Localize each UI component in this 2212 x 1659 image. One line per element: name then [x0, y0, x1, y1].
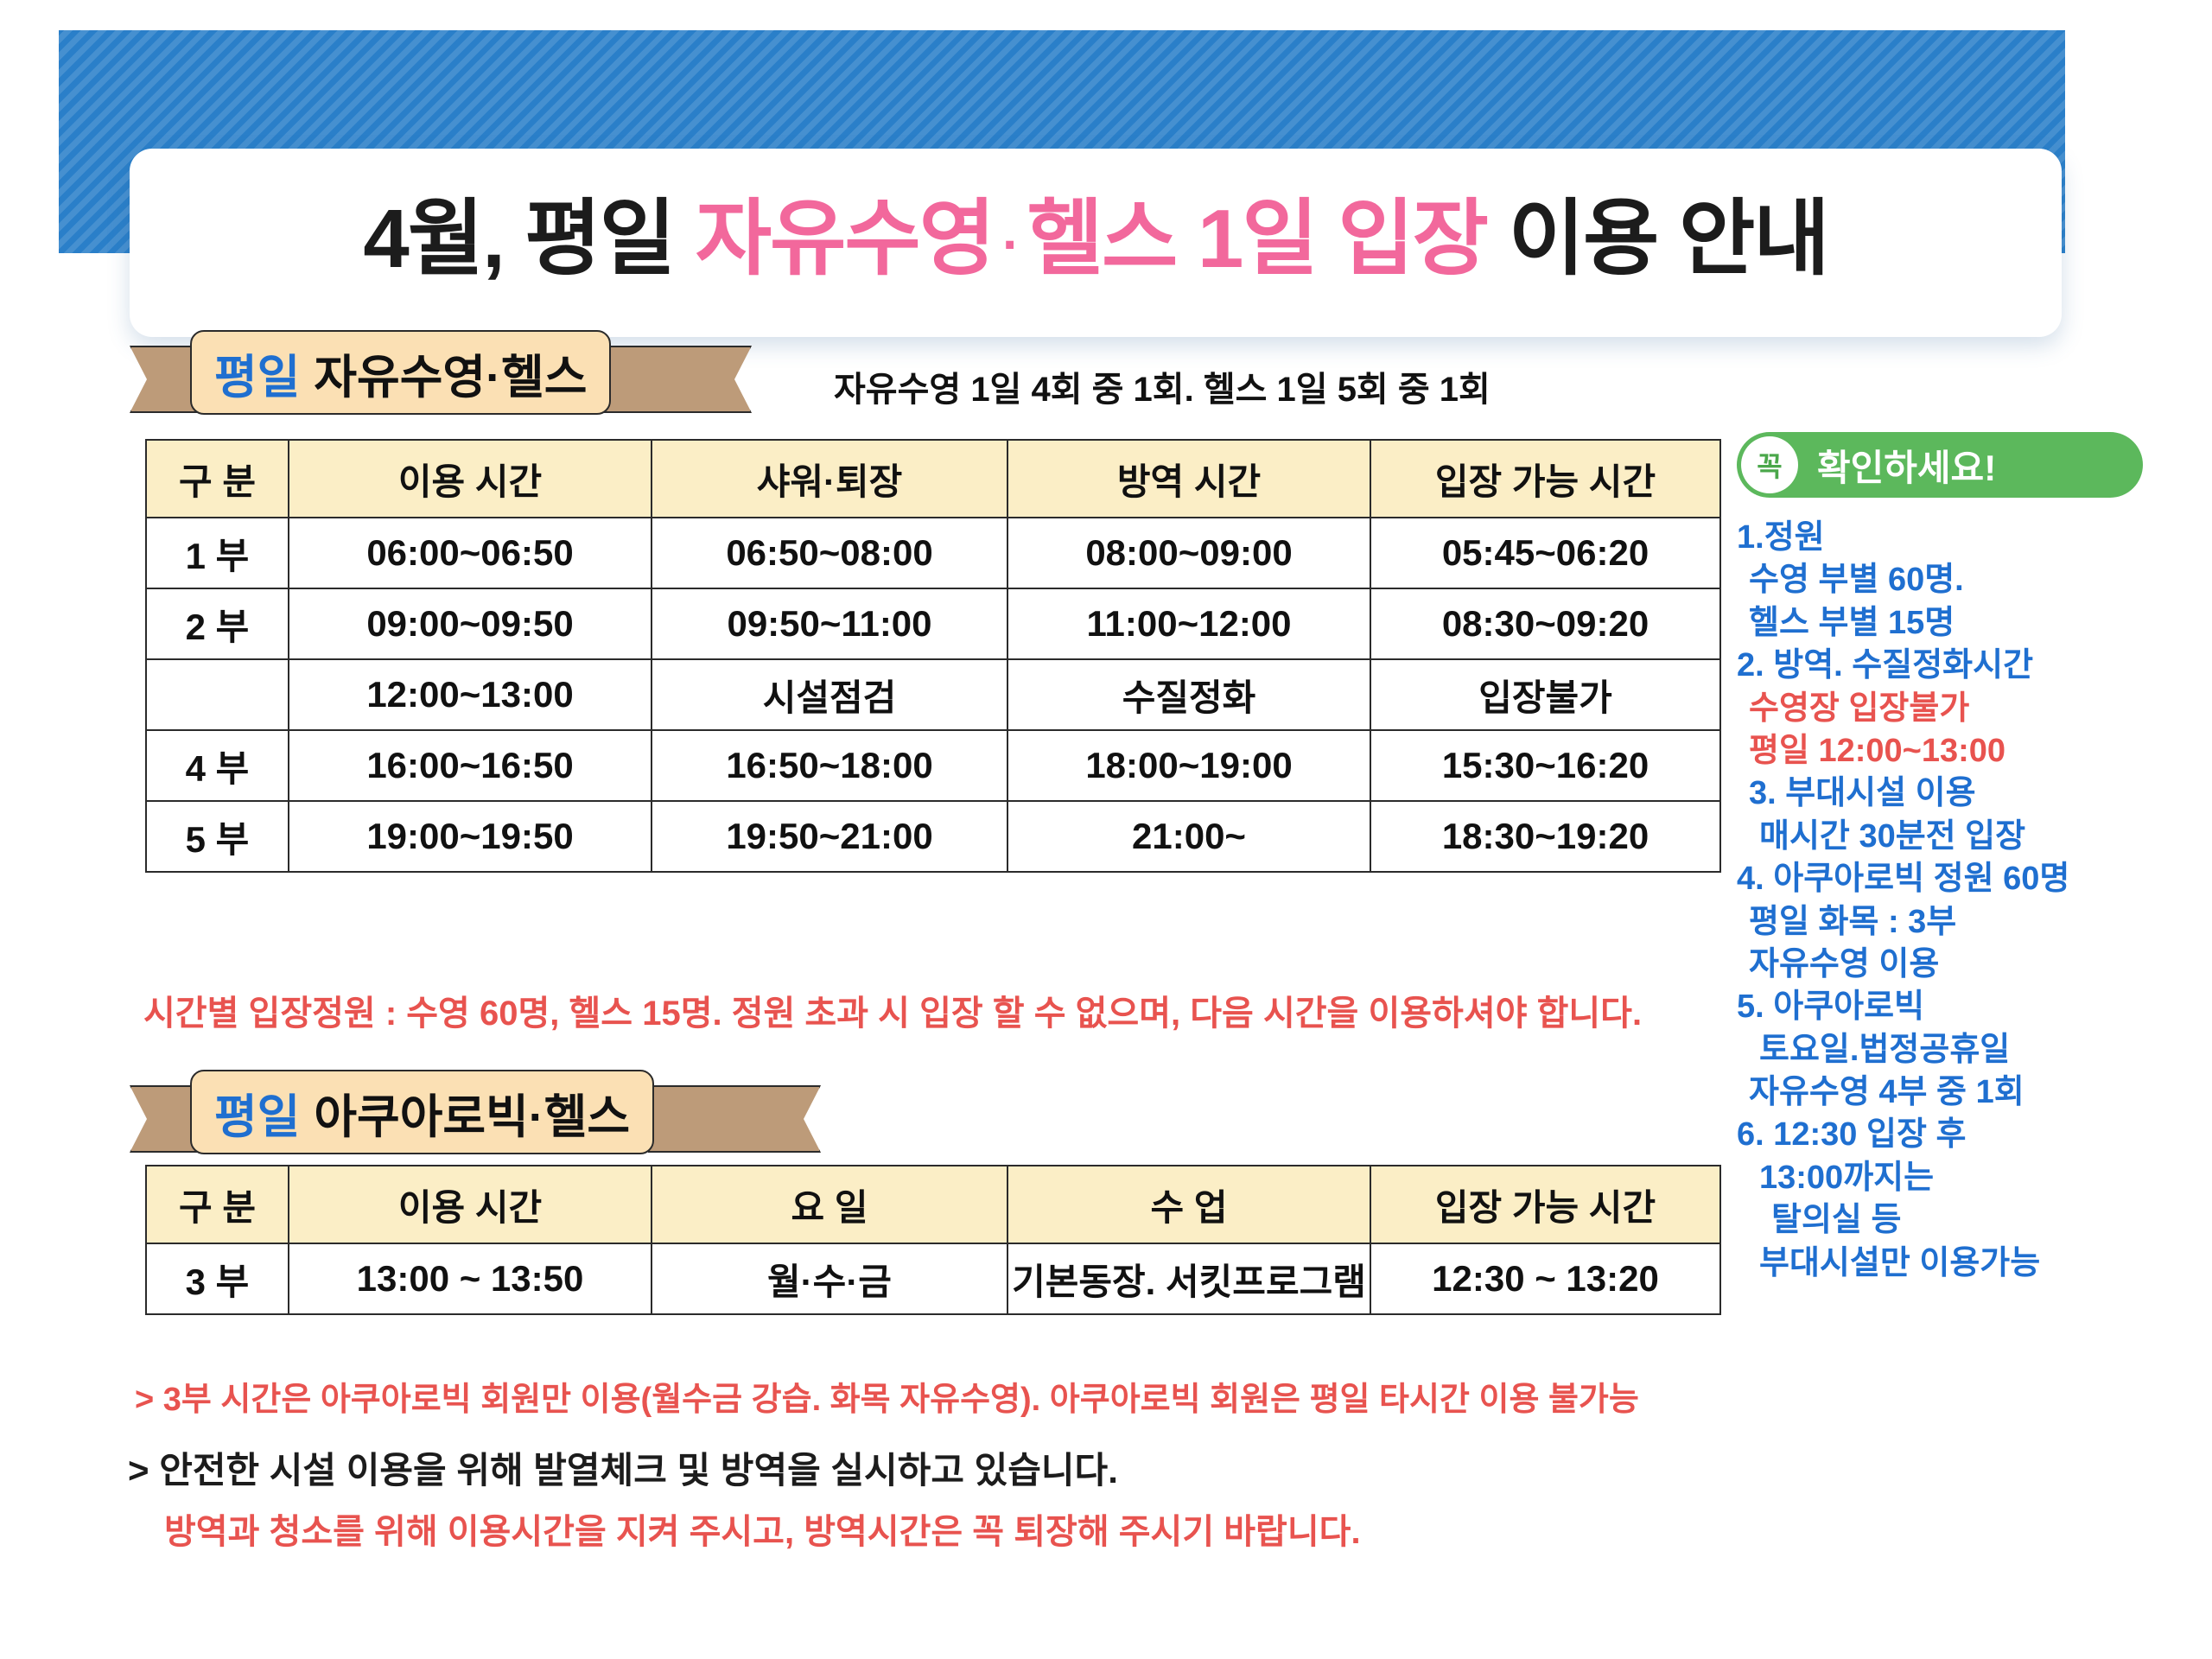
section2-ribbon-label: 아쿠아로빅·헬스: [300, 1078, 630, 1147]
s2-col-1: 이용 시간: [289, 1166, 652, 1243]
s1-r3-c3: 18:00~19:00: [1007, 730, 1370, 801]
s1-col-4: 입장 가능 시간: [1370, 440, 1720, 518]
s1-r1-c2: 09:50~11:00: [652, 588, 1007, 659]
badge-mark-icon: 꼭: [1741, 436, 1798, 493]
s2-r0-c4: 12:30 ~ 13:20: [1370, 1243, 1720, 1314]
s1-r2-c1: 12:00~13:00: [289, 659, 652, 730]
s2-r0-c1: 13:00 ~ 13:50: [289, 1243, 652, 1314]
footnote-1: > 3부 시간은 아쿠아로빅 회원만 이용(월수금 강습. 화목 자유수영). …: [135, 1372, 1639, 1420]
s1-r3-c2: 16:50~18:00: [652, 730, 1007, 801]
s2-r0-c2: 월·수·금: [652, 1243, 1007, 1314]
check-badge: 꼭 확인하세요!: [1737, 432, 2143, 498]
s1-col-1: 이용 시간: [289, 440, 652, 518]
s2-r0-c3: 기본동장. 서킷프로그램: [1007, 1243, 1370, 1314]
s1-col-3: 방역 시간: [1007, 440, 1370, 518]
table-row: 2 부 09:00~09:50 09:50~11:00 11:00~12:00 …: [146, 588, 1720, 659]
section2-ribbon-prefix: 평일: [214, 1078, 300, 1147]
section2-ribbon: 평일 아쿠아로빅·헬스: [130, 1070, 821, 1160]
table-row-maintenance: 12:00~13:00 시설점검 수질정화 입장불가: [146, 659, 1720, 730]
ribbon-tail-right: [648, 1085, 821, 1153]
list-item: 헬스 부별 15명: [1737, 602, 2203, 645]
footnote-2: > 안전한 시설 이용을 위해 발열체크 및 방역을 실시하고 있습니다.: [128, 1441, 1118, 1494]
s1-r4-c2: 19:50~21:00: [652, 801, 1007, 872]
list-item: 탈의실 등: [1737, 1199, 2203, 1242]
section1-ribbon-prefix: 평일: [214, 339, 300, 407]
list-item: 6. 12:30 입장 후: [1737, 1114, 2203, 1156]
list-item: 5. 아쿠아로빅: [1737, 986, 2203, 1028]
ribbon-plaque: 평일 자유수영·헬스: [190, 330, 611, 415]
list-item: 3. 부대시설 이용: [1737, 772, 2203, 815]
s1-r3-c1: 16:00~16:50: [289, 730, 652, 801]
table-row: 4 부 16:00~16:50 16:50~18:00 18:00~19:00 …: [146, 730, 1720, 801]
list-item: 매시간 30분전 입장: [1737, 816, 2203, 858]
s1-r2-c2: 시설점검: [652, 659, 1007, 730]
s1-r4-c1: 19:00~19:50: [289, 801, 652, 872]
section1-ribbon: 평일 자유수영·헬스: [130, 330, 752, 420]
s2-col-3: 수 업: [1007, 1166, 1370, 1243]
list-item: 4. 아쿠아로빅 정원 60명: [1737, 858, 2203, 900]
table-row: 3 부 13:00 ~ 13:50 월·수·금 기본동장. 서킷프로그램 12:…: [146, 1243, 1720, 1314]
section1-note: 자유수영 1일 4회 중 1회. 헬스 1일 5회 중 1회: [834, 361, 1491, 411]
s1-r1-c1: 09:00~09:50: [289, 588, 652, 659]
list-item: 자유수영 이용: [1737, 944, 2203, 986]
s1-r2-c0: [146, 659, 289, 730]
list-item: 2. 방역. 수질정화시간: [1737, 645, 2203, 687]
s1-r3-c0: 4 부: [146, 730, 289, 801]
section1-capacity-notice: 시간별 입장정원 : 수영 60명, 헬스 15명. 정원 초과 시 입장 할 …: [143, 985, 1642, 1035]
badge-label: 확인하세요!: [1817, 439, 1996, 492]
sidebar-notes-list: 1.정원 수영 부별 60명. 헬스 부별 15명 2. 방역. 수질정화시간 …: [1737, 517, 2203, 1285]
table-header-row: 구 분 이용 시간 샤워·퇴장 방역 시간 입장 가능 시간: [146, 440, 1720, 518]
section1-table: 구 분 이용 시간 샤워·퇴장 방역 시간 입장 가능 시간 1 부 06:00…: [145, 439, 1721, 873]
list-item: 부대시설만 이용가능: [1737, 1243, 2203, 1285]
list-item: 토요일.법정공휴일: [1737, 1029, 2203, 1071]
s1-r4-c0: 5 부: [146, 801, 289, 872]
s2-r0-c0: 3 부: [146, 1243, 289, 1314]
list-item: 평일 12:00~13:00: [1737, 730, 2203, 772]
s1-r0-c4: 05:45~06:20: [1370, 518, 1720, 588]
s2-col-4: 입장 가능 시간: [1370, 1166, 1720, 1243]
section1-ribbon-label: 자유수영·헬스: [300, 339, 587, 407]
footnote-3: 방역과 청소를 위해 이용시간을 지켜 주시고, 방역시간은 꼭 퇴장해 주시기…: [164, 1503, 1361, 1554]
list-item: 수영장 입장불가: [1737, 688, 2203, 730]
list-item: 수영 부별 60명.: [1737, 559, 2203, 601]
s2-col-0: 구 분: [146, 1166, 289, 1243]
s1-r1-c0: 2 부: [146, 588, 289, 659]
table-row: 5 부 19:00~19:50 19:50~21:00 21:00~ 18:30…: [146, 801, 1720, 872]
table-header-row: 구 분 이용 시간 요 일 수 업 입장 가능 시간: [146, 1166, 1720, 1243]
s1-col-2: 샤워·퇴장: [652, 440, 1007, 518]
s1-r0-c0: 1 부: [146, 518, 289, 588]
table-row: 1 부 06:00~06:50 06:50~08:00 08:00~09:00 …: [146, 518, 1720, 588]
s1-r1-c3: 11:00~12:00: [1007, 588, 1370, 659]
list-item: 자유수영 4부 중 1회: [1737, 1071, 2203, 1114]
s1-r0-c1: 06:00~06:50: [289, 518, 652, 588]
s1-r2-c3: 수질정화: [1007, 659, 1370, 730]
s1-r0-c2: 06:50~08:00: [652, 518, 1007, 588]
section2-table: 구 분 이용 시간 요 일 수 업 입장 가능 시간 3 부 13:00 ~ 1…: [145, 1165, 1721, 1315]
s1-col-0: 구 분: [146, 440, 289, 518]
list-item: 평일 화목 : 3부: [1737, 901, 2203, 944]
s1-r0-c3: 08:00~09:00: [1007, 518, 1370, 588]
s1-r4-c3: 21:00~: [1007, 801, 1370, 872]
list-item: 1.정원: [1737, 517, 2203, 559]
s1-r3-c4: 15:30~16:20: [1370, 730, 1720, 801]
s1-r1-c4: 08:30~09:20: [1370, 588, 1720, 659]
sidebar: 꼭 확인하세요! 1.정원 수영 부별 60명. 헬스 부별 15명 2. 방역…: [1737, 432, 2203, 1285]
s1-r4-c4: 18:30~19:20: [1370, 801, 1720, 872]
s1-r2-c4: 입장불가: [1370, 659, 1720, 730]
s2-col-2: 요 일: [652, 1166, 1007, 1243]
list-item: 13:00까지는: [1737, 1157, 2203, 1199]
ribbon-plaque: 평일 아쿠아로빅·헬스: [190, 1070, 654, 1154]
